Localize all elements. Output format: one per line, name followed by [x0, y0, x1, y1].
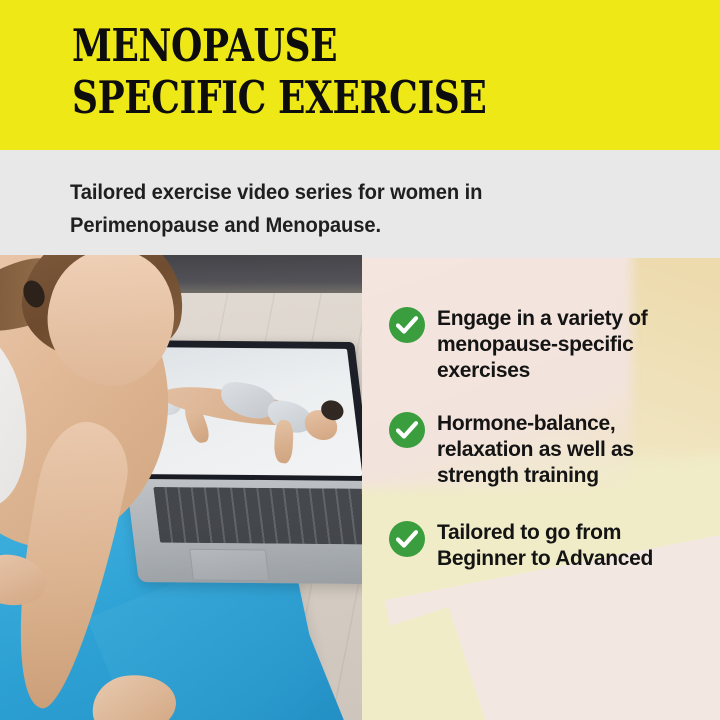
check-circle-icon [389, 521, 425, 557]
benefit-text: Tailored to go from Beginner to Advanced [437, 519, 653, 572]
laptop-base [126, 479, 362, 584]
benefit-item: Hormone-balance, relaxation as well as s… [389, 410, 709, 489]
benefits-panel: Engage in a variety of menopause-specifi… [362, 258, 720, 720]
benefit-line: Hormone-balance, [437, 411, 634, 437]
check-circle-icon [389, 307, 425, 343]
benefit-text: Engage in a variety of menopause-specifi… [437, 305, 647, 384]
video-arm [273, 418, 294, 464]
benefit-text: Hormone-balance, relaxation as well as s… [437, 410, 634, 489]
check-circle-icon [389, 412, 425, 448]
benefit-line: Engage in a variety of [437, 306, 647, 332]
benefit-line: strength training [437, 463, 634, 489]
benefit-item: Tailored to go from Beginner to Advanced [389, 519, 709, 572]
benefits-list: Engage in a variety of menopause-specifi… [362, 258, 720, 720]
subtitle-line-2: Perimenopause and Menopause. [70, 209, 646, 242]
benefit-item: Engage in a variety of menopause-specifi… [389, 305, 709, 384]
page-title: MENOPAUSE SPECIFIC EXERCISE [72, 20, 552, 124]
benefit-line: Tailored to go from [437, 520, 653, 546]
page-title-line-2: SPECIFIC EXERCISE [72, 72, 552, 124]
subtitle-line-1: Tailored exercise video series for women… [70, 176, 646, 209]
benefit-line: relaxation as well as [437, 437, 634, 463]
promo-poster: MENOPAUSE SPECIFIC EXERCISE Tailored exe… [0, 0, 720, 720]
page-title-line-1: MENOPAUSE [72, 20, 552, 72]
hero-photo [0, 255, 362, 720]
benefit-line: Beginner to Advanced [437, 546, 653, 572]
laptop-trackpad [189, 549, 270, 581]
lower-section: Engage in a variety of menopause-specifi… [0, 255, 720, 720]
benefit-line: exercises [437, 358, 647, 384]
subtitle-text: Tailored exercise video series for women… [70, 176, 646, 242]
benefit-line: menopause-specific [437, 332, 647, 358]
laptop-keyboard [153, 487, 362, 544]
subtitle-band: Tailored exercise video series for women… [0, 150, 720, 255]
header-band: MENOPAUSE SPECIFIC EXERCISE [0, 0, 720, 150]
